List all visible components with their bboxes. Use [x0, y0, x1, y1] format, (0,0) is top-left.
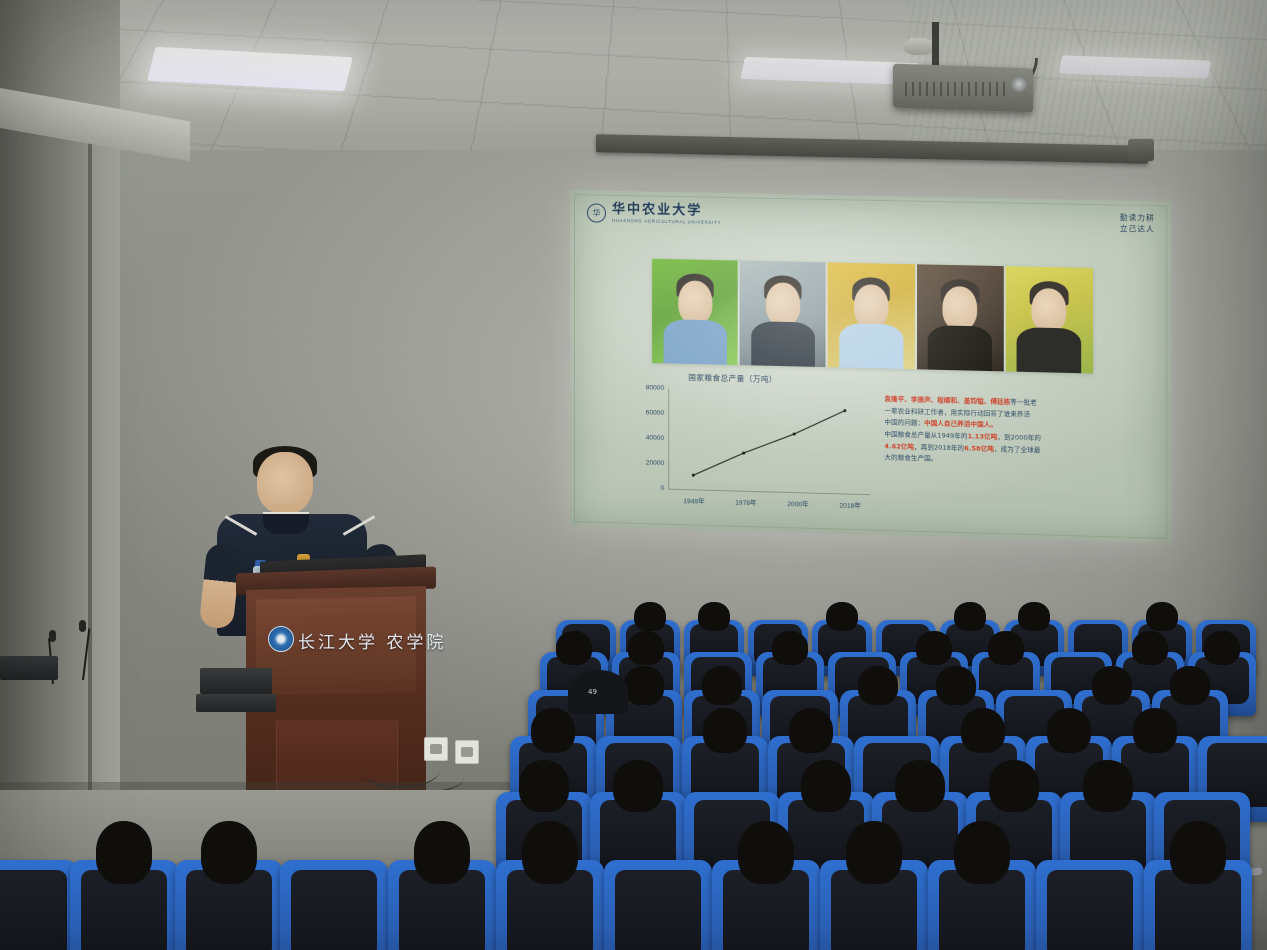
projector-vent — [905, 82, 1005, 96]
photo-face — [1032, 288, 1067, 333]
audience-head — [789, 708, 834, 753]
auditorium-seat — [1036, 860, 1144, 950]
scientist-names: 袁隆平、李振声、程顺和、盖钧镒、傅廷栋 — [884, 395, 1010, 406]
audience-member — [772, 631, 807, 664]
audience-head — [936, 666, 976, 704]
audience-member — [989, 760, 1039, 812]
audience-head — [826, 602, 857, 631]
audience-member — [954, 821, 1010, 883]
audience-member — [703, 708, 748, 753]
audience-member — [916, 631, 951, 664]
figure-2018: 6.58亿吨 — [964, 444, 994, 453]
figure-1949: 1.13亿吨 — [968, 432, 998, 441]
audience-member — [1204, 631, 1239, 664]
audience-member — [789, 708, 834, 753]
audience-head — [738, 821, 794, 883]
line1-rest: 等一批老 — [1010, 398, 1037, 407]
audience-head — [954, 821, 1010, 883]
audience-head — [96, 821, 152, 883]
projector-lens — [1010, 76, 1028, 92]
audience-head — [846, 821, 902, 883]
audience-head — [895, 760, 945, 812]
audience-head — [989, 760, 1039, 812]
audience-head — [624, 666, 664, 704]
line5-b: ，再到2018年的 — [914, 443, 964, 452]
audience-member — [519, 760, 569, 812]
projector-mount — [932, 22, 939, 70]
line4-a: 中国粮食总产量从1949年的 — [884, 430, 967, 440]
photo-scientist-1 — [652, 259, 738, 365]
auditorium-seat — [280, 860, 388, 950]
audience-member — [895, 760, 945, 812]
audience-member — [1047, 708, 1092, 753]
projection-screen: 华 华中农业大学 HUAZHONG AGRICULTURAL UNIVERSIT… — [570, 190, 1171, 543]
photo-scientist-2 — [740, 261, 826, 368]
audience-head — [801, 760, 851, 812]
photo-face — [766, 282, 800, 327]
projection-screen-housing-end — [1128, 139, 1154, 161]
audience-member — [96, 821, 152, 883]
audience-head — [1083, 760, 1133, 812]
audience-member — [522, 821, 578, 883]
university-seal-icon: 华 — [587, 203, 606, 222]
audience-member — [826, 602, 857, 631]
audience-head — [1170, 666, 1210, 704]
audience-head — [634, 602, 665, 631]
audience-head — [772, 631, 807, 664]
audience-member — [1146, 602, 1177, 631]
university-motto: 勤读力耕 立己达人 — [1120, 213, 1155, 236]
speaker-collar — [263, 512, 309, 534]
audience-head — [961, 708, 1006, 753]
line3-highlight: 中国人自己养活中国人。 — [924, 419, 997, 429]
audience-member — [954, 602, 985, 631]
photo-torso — [839, 323, 903, 369]
audience-member — [201, 821, 257, 883]
photo-torso — [751, 321, 815, 366]
audience-head — [703, 708, 748, 753]
audience-seating: 49 — [0, 560, 1267, 950]
audience-member — [1170, 666, 1210, 704]
audience-head — [1018, 602, 1049, 631]
audience-member — [1083, 760, 1133, 812]
audience-head — [1047, 708, 1092, 753]
audience-member — [1133, 708, 1178, 753]
university-name: 华中农业大学 — [612, 203, 721, 218]
audience-member — [1092, 666, 1132, 704]
figure-2000: 4.62亿吨 — [884, 442, 914, 451]
audience-member — [556, 631, 591, 664]
audience-head — [1204, 631, 1239, 664]
audience-head — [698, 602, 729, 631]
line4-b: ，到2000年的 — [997, 433, 1041, 442]
line3-prefix: 中国的问题： — [884, 418, 924, 427]
photo-torso — [663, 319, 726, 364]
audience-head — [858, 666, 898, 704]
audience-member — [961, 708, 1006, 753]
audience-head — [414, 821, 470, 883]
audience-member — [846, 821, 902, 883]
audience-member — [414, 821, 470, 883]
scientist-photo-strip — [652, 259, 1093, 374]
audience-member — [988, 631, 1023, 664]
audience-head — [954, 602, 985, 631]
chart-title: 国家粮食总产量（万吨） — [688, 372, 777, 385]
audience-member — [738, 821, 794, 883]
audience-member — [936, 666, 976, 704]
line5-c: ，成为了全球最 — [994, 445, 1041, 454]
audience-head — [1092, 666, 1132, 704]
audience-head — [531, 708, 576, 753]
photo-face — [678, 280, 712, 325]
motto-line-1: 勤读力耕 — [1120, 213, 1155, 225]
grain-output-chart: 020000400006000080000 1949年1978年2000年201… — [622, 383, 876, 510]
audience-head — [1132, 631, 1167, 664]
audience-member — [801, 760, 851, 812]
audience-head — [988, 631, 1023, 664]
photo-scientist-4 — [917, 264, 1004, 371]
photo-face — [854, 284, 889, 329]
photo-scientist-3 — [828, 262, 915, 369]
audience-head — [613, 760, 663, 812]
audience-member — [531, 708, 576, 753]
audience-member — [1132, 631, 1167, 664]
audience-head — [628, 631, 663, 664]
photo-torso — [1017, 327, 1082, 373]
audience-member — [698, 602, 729, 631]
photo-torso — [928, 325, 992, 371]
audience-head — [916, 631, 951, 664]
auditorium-seat — [0, 860, 78, 950]
smoke-detector-icon — [903, 38, 935, 55]
audience-member — [1018, 602, 1049, 631]
audience-member — [628, 631, 663, 664]
audience-head — [522, 821, 578, 883]
lecture-hall-photo: 华 华中农业大学 HUAZHONG AGRICULTURAL UNIVERSIT… — [0, 0, 1267, 950]
audience-head — [556, 631, 591, 664]
audience-member — [858, 666, 898, 704]
photo-face — [943, 286, 978, 331]
audience-head — [1146, 602, 1177, 631]
audience-head — [1133, 708, 1178, 753]
slide-body-text: 袁隆平、李振声、程顺和、盖钧镒、傅廷栋等一批老 一辈农业科研工作者，用实际行动回… — [884, 394, 1099, 470]
audience-head — [1170, 821, 1226, 883]
audience-head — [702, 666, 742, 704]
chart-line-series — [622, 383, 876, 510]
audience-member — [634, 602, 665, 631]
audience-member — [1170, 821, 1226, 883]
auditorium-seat — [604, 860, 712, 950]
audience-head — [519, 760, 569, 812]
baseball-cap — [568, 670, 628, 714]
audience-member — [624, 666, 664, 704]
audience-head — [201, 821, 257, 883]
motto-line-2: 立己达人 — [1120, 224, 1155, 236]
university-logo: 华 华中农业大学 HUAZHONG AGRICULTURAL UNIVERSIT… — [587, 202, 721, 225]
cap-text: 49 — [588, 688, 597, 696]
audience-member — [702, 666, 742, 704]
photo-scientist-5 — [1006, 266, 1093, 373]
audience-member — [613, 760, 663, 812]
